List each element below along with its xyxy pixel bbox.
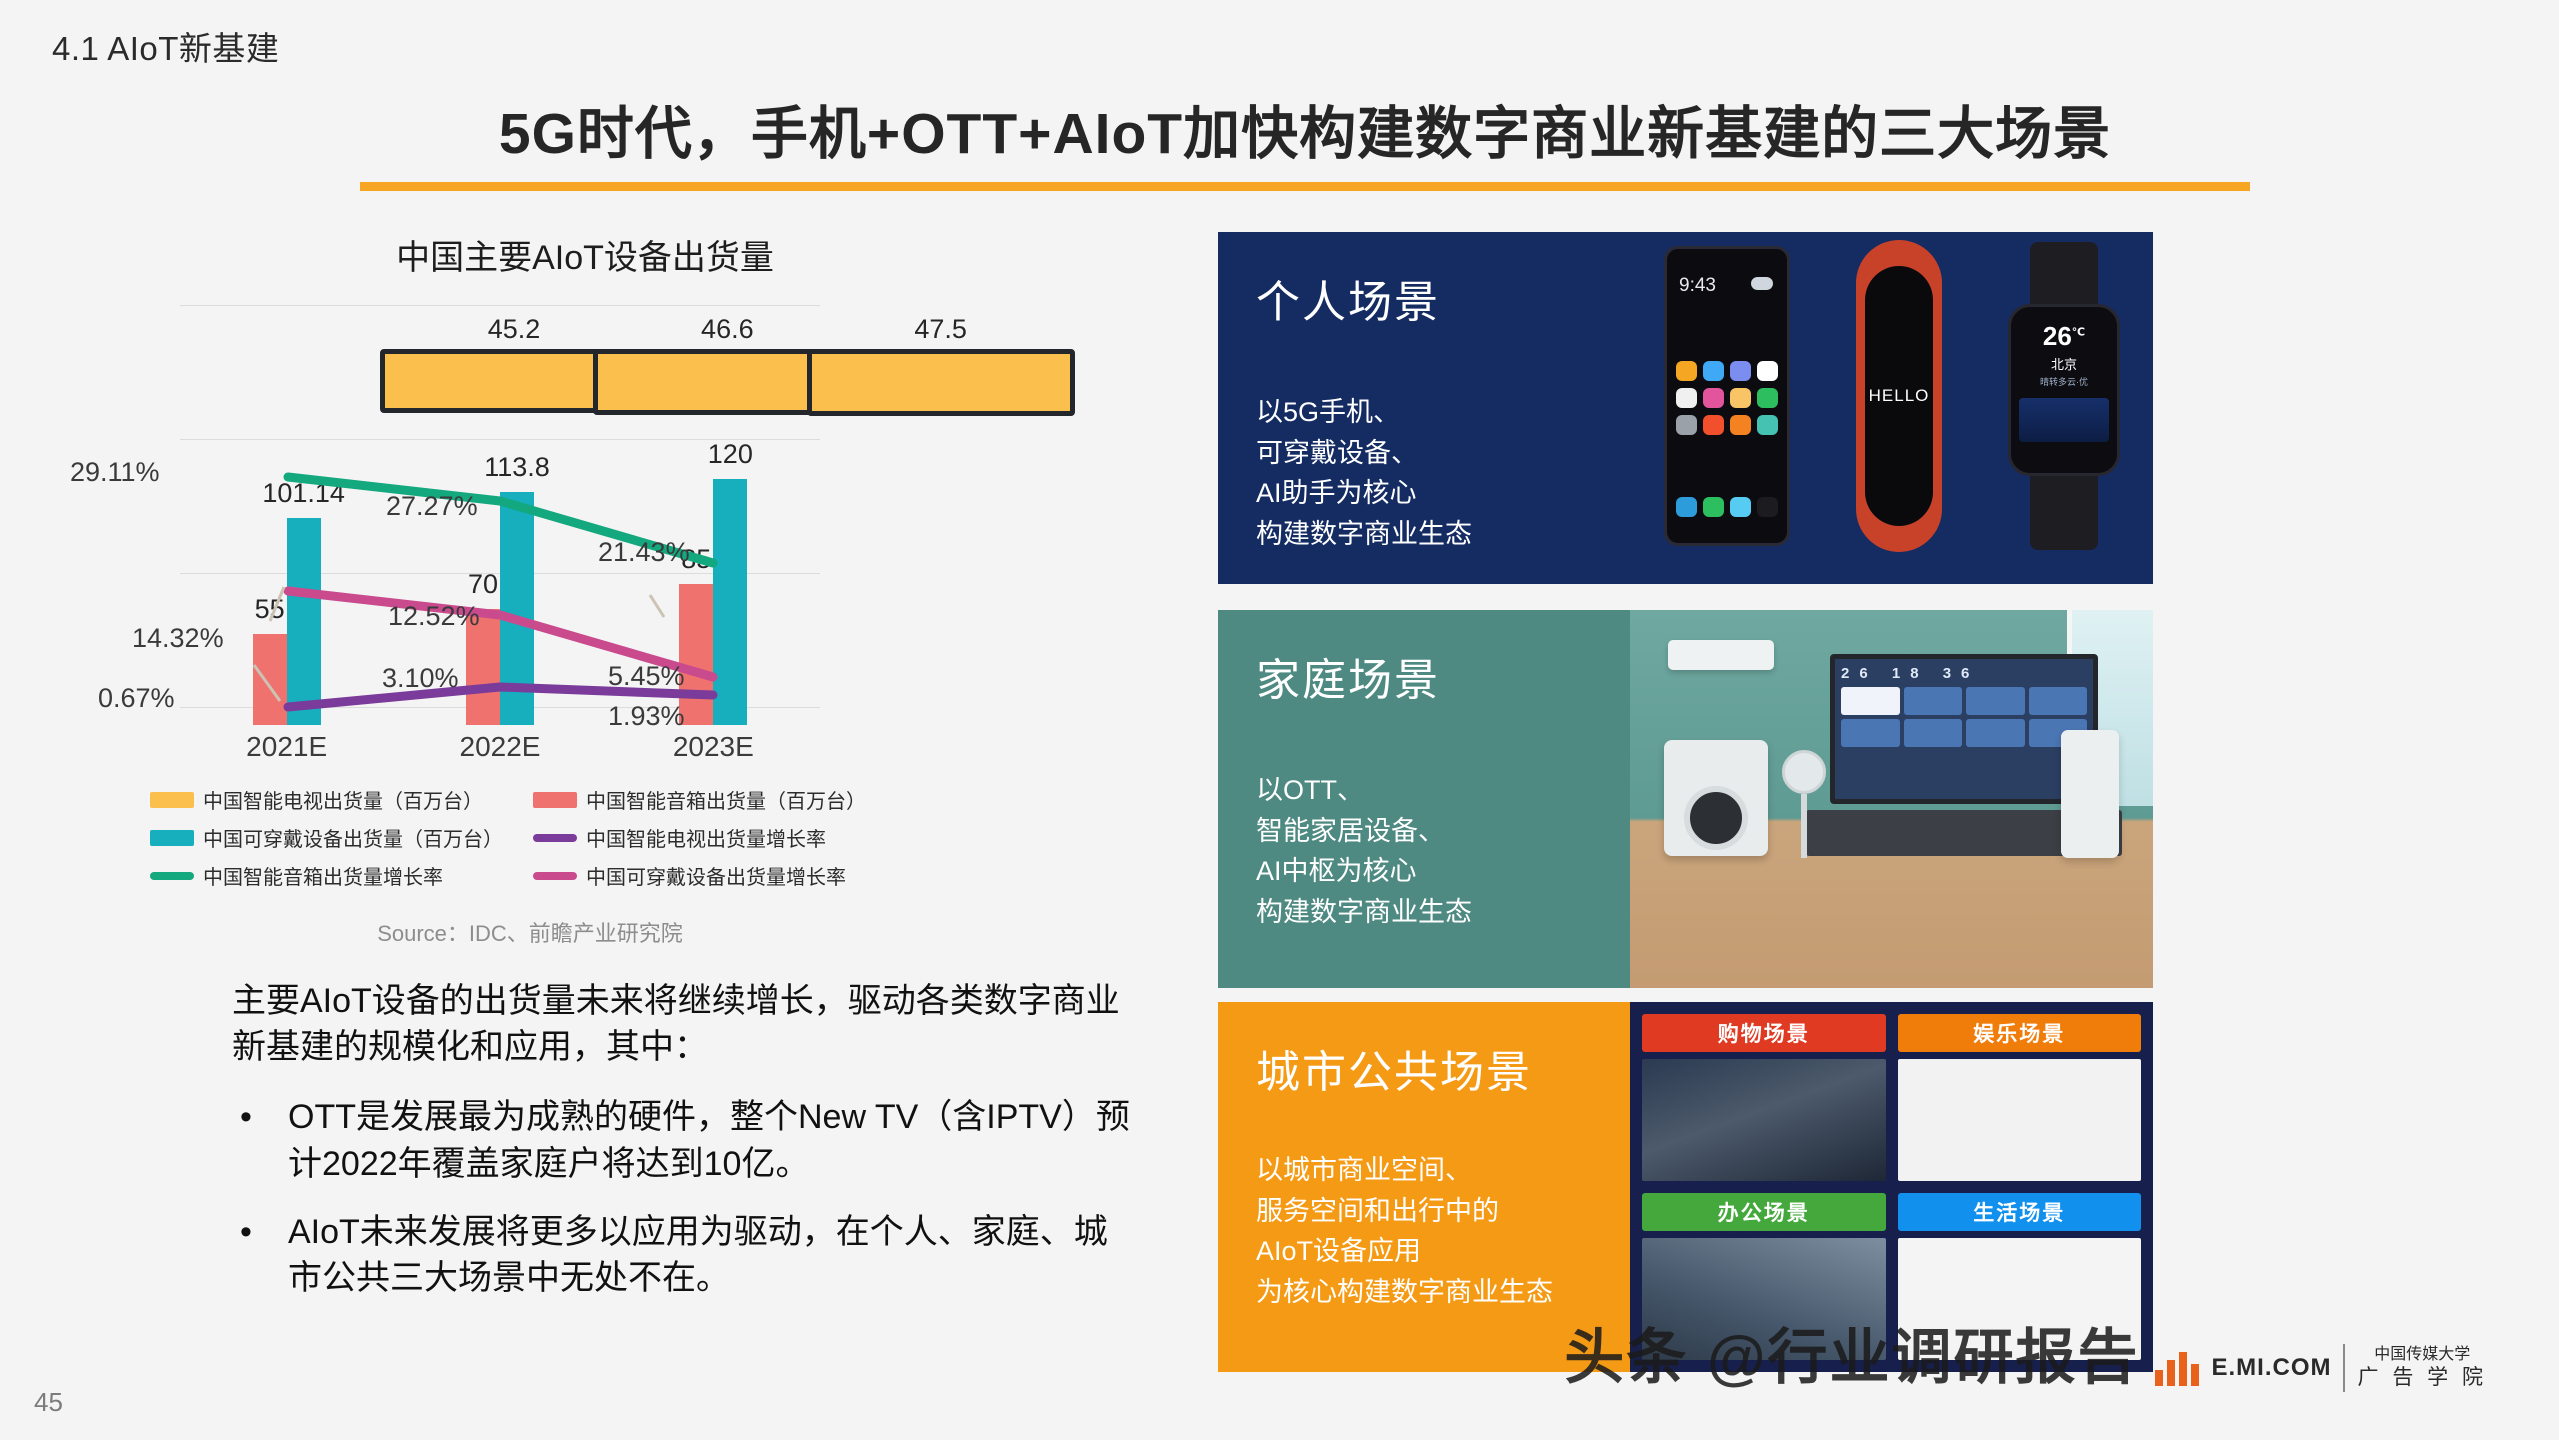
app-icon: [1676, 361, 1697, 381]
app-icon: [1757, 415, 1778, 435]
pct-wearable-2022: 12.52%: [388, 601, 480, 632]
card-body: 以OTT、 智能家居设备、 AI中枢为核心 构建数字商业生态: [1256, 770, 1630, 932]
leader-line-wear-2021: [270, 587, 284, 621]
app-icon: [1703, 415, 1724, 435]
phone-dock: [1676, 497, 1778, 517]
x-tick-2021: 2021E: [180, 731, 393, 763]
list-item: • OTT是发展最为成熟的硬件，整个New TV（含IPTV）预计2022年覆盖…: [232, 1094, 1132, 1186]
x-tick-2022: 2022E: [393, 731, 606, 763]
tv-tile: [1841, 687, 1900, 715]
city-tile-entertainment: 娱乐场景: [1898, 1014, 2142, 1181]
fan-pole: [1801, 794, 1807, 858]
tv-tile: [2029, 687, 2088, 715]
legend-label: 中国可穿戴设备出货量（百万台）: [203, 823, 503, 852]
pct-wearable-2023: 5.45%: [608, 661, 685, 692]
app-icon: [1703, 361, 1724, 381]
watch-strap-bottom: [2030, 472, 2098, 550]
logo-bar: [2155, 1370, 2163, 1386]
card-body-line: 为核心构建数字商业生态: [1256, 1272, 1630, 1313]
app-icon: [1730, 388, 1751, 408]
bar-tv-2023: 47.5: [807, 349, 1075, 416]
legend-item-speaker-growth: 中国智能音箱出货量增长率: [150, 861, 527, 890]
card-body-line: 服务空间和出行中的: [1256, 1191, 1630, 1232]
title-block: 5G时代，手机+OTT+AIoT加快构建数字商业新基建的三大场景: [360, 88, 2250, 191]
leader-line-2023: [650, 595, 664, 617]
bullet-text: AIoT未来发展将更多以应用为驱动，在个人、家庭、城市公共三大场景中无处不在。: [288, 1209, 1132, 1301]
watch-condition: 晴转多云·优: [2011, 375, 2117, 388]
line-series-layer: [180, 305, 820, 725]
tile-photo-shopping-mall: [1642, 1059, 1886, 1181]
logo-divider: [2343, 1344, 2345, 1392]
legend-swatch-icon: [533, 872, 577, 880]
legend-item-tv-shipments: 中国智能电视出货量（百万台）: [150, 785, 527, 814]
university-mark: 中国传媒大学 广 告 学 院: [2357, 1345, 2487, 1391]
legend-swatch-icon: [150, 792, 194, 808]
watch-city: 北京: [2011, 354, 2117, 373]
band-screen-text: HELLO: [1869, 386, 1930, 406]
legend-swatch-icon: [150, 830, 194, 846]
app-icon: [1730, 361, 1751, 381]
fan-head: [1782, 750, 1826, 794]
card-body-line: 构建数字商业生态: [1256, 892, 1630, 933]
card-body-line: 以OTT、: [1256, 770, 1630, 811]
tile-caption: 办公场景: [1642, 1193, 1886, 1231]
bullet-list: • OTT是发展最为成熟的硬件，整个New TV（含IPTV）预计2022年覆盖…: [232, 1094, 1132, 1301]
tv-tile: [1904, 719, 1963, 747]
card-body-line: 构建数字商业生态: [1256, 514, 1630, 555]
page-title: 5G时代，手机+OTT+AIoT加快构建数字商业新基建的三大场景: [360, 88, 2250, 170]
card-panel: 家庭场景 以OTT、 智能家居设备、 AI中枢为核心 构建数字商业生态: [1218, 610, 1630, 988]
card-artwork-personal-devices: 9:43: [1630, 232, 2153, 584]
tile-photo-entertainment-kiosk: [1898, 1059, 2142, 1181]
legend-item-wearable-growth: 中国可穿戴设备出货量增长率: [533, 861, 910, 890]
legend-item-wearable-shipments: 中国可穿戴设备出货量（百万台）: [150, 823, 527, 852]
fitness-band-illustration: HELLO: [1856, 240, 1942, 552]
tv-dashboard-tiles: [1841, 687, 2087, 747]
pct-tv-2023: 1.93%: [608, 701, 685, 732]
chart-legend: 中国智能电视出货量（百万台） 中国智能音箱出货量（百万台） 中国可穿戴设备出货量…: [150, 785, 910, 890]
slide-root: 4.1 AIoT新基建 5G时代，手机+OTT+AIoT加快构建数字商业新基建的…: [0, 0, 2559, 1440]
card-body-line: AI助手为核心: [1256, 473, 1630, 514]
watch-forecast-chart: [2019, 398, 2109, 442]
pct-speaker-2021: 29.11%: [70, 457, 160, 488]
tile-caption: 生活场景: [1898, 1193, 2142, 1231]
title-underline: [360, 182, 2250, 191]
watch-temperature: 26℃: [2011, 321, 2117, 352]
university-school: 广 告 学 院: [2357, 1365, 2487, 1391]
app-icon: [1676, 415, 1697, 435]
left-column: 中国主要AIoT设备出货量 45.2 55 101.14 46.6 70 113…: [0, 230, 1190, 1390]
x-tick-2023: 2023E: [607, 731, 820, 763]
logo-bar: [2191, 1364, 2199, 1386]
watch-temp-value: 26: [2043, 321, 2072, 351]
washer-door: [1684, 786, 1748, 850]
app-icon: [1730, 415, 1751, 435]
city-tile-shopping: 购物场景: [1642, 1014, 1886, 1181]
legend-item-speaker-shipments: 中国智能音箱出货量（百万台）: [533, 785, 910, 814]
leader-line-tv-2021: [254, 665, 280, 701]
app-icon: [1757, 361, 1778, 381]
messages-icon: [1730, 497, 1751, 517]
pct-speaker-2022: 27.27%: [386, 491, 478, 522]
watch-face: 26℃ 北京 晴转多云·优: [2008, 304, 2120, 476]
fan-illustration: [1782, 750, 1826, 860]
pct-wearable-2021: 14.32%: [132, 623, 224, 654]
list-item: • AIoT未来发展将更多以应用为驱动，在个人、家庭、城市公共三大场景中无处不在…: [232, 1209, 1132, 1301]
smartwatch-illustration: 26℃ 北京 晴转多云·优: [2008, 242, 2120, 550]
tv-tile: [1841, 719, 1900, 747]
watch-temp-unit: ℃: [2072, 326, 2085, 338]
card-body-line: 以5G手机、: [1256, 392, 1630, 433]
air-conditioner-illustration: [1668, 640, 1774, 670]
x-axis-labels: 2021E 2022E 2023E: [180, 731, 820, 763]
university-name: 中国传媒大学: [2357, 1345, 2487, 1365]
logo-bar: [2167, 1360, 2175, 1386]
card-body: 以城市商业空间、 服务空间和出行中的 AIoT设备应用 为核心构建数字商业生态: [1256, 1150, 1630, 1312]
pct-tv-2021: 0.67%: [98, 683, 175, 714]
card-body-line: AIoT设备应用: [1256, 1231, 1630, 1272]
legend-swatch-icon: [533, 834, 577, 842]
legend-label: 中国智能电视出货量（百万台）: [203, 785, 483, 814]
band-screen: HELLO: [1865, 266, 1933, 526]
camera-icon: [1757, 497, 1778, 517]
cloud-icon: [1751, 277, 1773, 290]
card-body: 以5G手机、 可穿戴设备、 AI助手为核心 构建数字商业生态: [1256, 392, 1630, 554]
bullet-marker: •: [232, 1094, 288, 1186]
chart-title: 中国主要AIoT设备出货量: [0, 230, 1190, 279]
smart-tv-illustration: 26 18 36: [1830, 654, 2098, 804]
scene-card-personal: 个人场景 以5G手机、 可穿戴设备、 AI助手为核心 构建数字商业生态 9:43: [1218, 232, 2153, 584]
card-artwork-smart-home: 26 18 36: [1630, 610, 2153, 988]
card-body-line: AI中枢为核心: [1256, 851, 1630, 892]
card-body-line: 智能家居设备、: [1256, 811, 1630, 852]
washing-machine-illustration: [1664, 740, 1768, 856]
legend-label: 中国智能电视出货量增长率: [586, 823, 826, 852]
tv-tile: [1966, 719, 2025, 747]
card-body-line: 可穿戴设备、: [1256, 433, 1630, 474]
publisher-logo: E.MI.COM 中国传媒大学 广 告 学 院: [2155, 1344, 2487, 1396]
legend-label: 中国智能音箱出货量（百万台）: [586, 785, 866, 814]
legend-label: 中国可穿戴设备出货量增长率: [586, 861, 846, 890]
bar-logo-icon: [2155, 1350, 2199, 1386]
air-purifier-illustration: [2061, 730, 2119, 858]
card-body-line: 以城市商业空间、: [1256, 1150, 1630, 1191]
card-title: 城市公共场景: [1256, 1036, 1630, 1100]
card-title: 家庭场景: [1256, 644, 1630, 708]
legend-label: 中国智能音箱出货量增长率: [203, 861, 443, 890]
tv-sensor-readings: 26 18 36: [1841, 665, 2087, 682]
body-lead: 主要AIoT设备的出货量未来将继续增长，驱动各类数字商业新基建的规模化和应用，其…: [232, 978, 1132, 1070]
legend-swatch-icon: [533, 792, 577, 808]
section-label: 4.1 AIoT新基建: [52, 22, 279, 70]
logo-bar: [2179, 1352, 2187, 1386]
watermark: 头条 @行业调研报告 E.MI.COM 中国传媒大学 广 告 学 院: [1564, 1309, 2487, 1396]
app-icon: [1703, 388, 1724, 408]
tile-caption: 娱乐场景: [1898, 1014, 2142, 1052]
chart-plot-area: 45.2 55 101.14 46.6 70 113.8 47.5 85 120: [180, 305, 820, 725]
chart-source: Source：IDC、前瞻产业研究院: [150, 916, 910, 948]
scene-card-home: 家庭场景 以OTT、 智能家居设备、 AI中枢为核心 构建数字商业生态 26 1…: [1218, 610, 2153, 988]
tv-tile: [1966, 687, 2025, 715]
bullet-text: OTT是发展最为成熟的硬件，整个New TV（含IPTV）预计2022年覆盖家庭…: [288, 1094, 1132, 1186]
app-icon: [1757, 388, 1778, 408]
legend-item-tv-growth: 中国智能电视出货量增长率: [533, 823, 910, 852]
tv-tile: [1904, 687, 1963, 715]
smartphone-illustration: 9:43: [1664, 246, 1790, 546]
card-panel: 个人场景 以5G手机、 可穿戴设备、 AI助手为核心 构建数字商业生态: [1218, 232, 1630, 584]
app-icon: [1676, 388, 1697, 408]
pct-tv-2022: 3.10%: [382, 663, 459, 694]
pct-speaker-2023: 21.43%: [598, 537, 690, 568]
tile-caption: 购物场景: [1642, 1014, 1886, 1052]
page-number: 45: [34, 1387, 63, 1418]
body-text: 主要AIoT设备的出货量未来将继续增长，驱动各类数字商业新基建的规模化和应用，其…: [232, 978, 1132, 1301]
card-title: 个人场景: [1256, 266, 1630, 330]
watermark-text: 头条 @行业调研报告: [1564, 1309, 2139, 1396]
phone-icon: [1703, 497, 1724, 517]
bar-value: 47.5: [914, 314, 967, 345]
bullet-marker: •: [232, 1209, 288, 1301]
legend-swatch-icon: [150, 872, 194, 880]
phone-app-grid: [1676, 361, 1778, 435]
logo-wordmark: E.MI.COM: [2211, 1354, 2331, 1382]
contacts-icon: [1676, 497, 1697, 517]
